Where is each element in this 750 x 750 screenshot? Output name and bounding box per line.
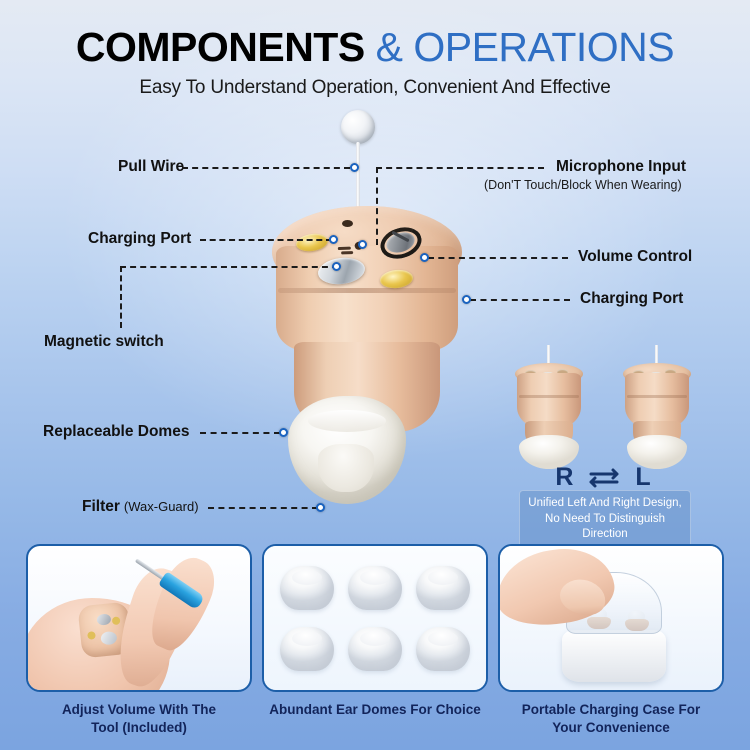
ear-dome-item [274, 619, 340, 678]
callout-charging-port-left-label: Charging Port [88, 230, 191, 247]
mini-device-left [621, 345, 693, 465]
device-contact-b [112, 616, 121, 625]
right-letter: R [555, 463, 573, 492]
ear-dome-cap [428, 570, 458, 585]
ear-dome-icon [348, 566, 402, 610]
dome-inner [318, 444, 374, 492]
feature-cards: Adjust Volume With The Tool (Included) A… [0, 544, 750, 750]
dot-charging-port-left [329, 235, 338, 244]
ear-dome-icon [416, 566, 470, 610]
leader-microphone-vertical [376, 167, 378, 245]
dome-lip [308, 410, 386, 432]
device-contact-a [87, 631, 96, 640]
volume-control-icon [380, 228, 422, 258]
callout-filter-sublabel: (Wax-Guard) [124, 499, 199, 514]
title-primary: COMPONENTS [76, 24, 365, 70]
leader-microphone-horizontal [376, 167, 544, 169]
ear-dome-icon [280, 566, 334, 610]
badge-line-2: No Need To Distinguish Direction [526, 512, 684, 543]
feature-card-charging-case[interactable]: Portable Charging Case For Your Convenie… [498, 544, 724, 737]
pull-wire-ball-icon [341, 110, 375, 144]
ear-dome-cap [292, 570, 322, 585]
leader-replaceable-domes [200, 432, 280, 434]
leader-charging-port-right [470, 299, 570, 301]
caption-line-1: Abundant Ear Domes For Choice [262, 701, 488, 719]
feature-card-ear-domes[interactable]: Abundant Ear Domes For Choice [262, 544, 488, 719]
unified-design-badge: Unified Left And Right Design, No Need T… [519, 490, 691, 549]
badge-line-1: Unified Left And Right Design, [526, 496, 684, 512]
callout-replaceable-domes: Replaceable Domes [43, 423, 189, 441]
mini-seam-left [627, 395, 687, 398]
ear-dome-icon [416, 627, 470, 671]
callout-replaceable-domes-label: Replaceable Domes [43, 423, 189, 440]
caption-line-1: Portable Charging Case For [498, 701, 724, 719]
device-switch [96, 613, 111, 625]
left-right-pair-panel: R L Unified Left And Right Design, No Ne… [505, 345, 701, 525]
ear-dome-icon [280, 627, 334, 671]
ear-dome-item [342, 619, 408, 678]
leader-filter [208, 507, 318, 509]
callout-microphone-input-label: Microphone Input [556, 158, 686, 175]
ear-dome-cap [292, 631, 322, 646]
leader-charging-port-left [200, 239, 332, 241]
dot-replaceable-domes [279, 428, 288, 437]
caption-line-1: Adjust Volume With The [26, 701, 252, 719]
feature-card-adjust-volume[interactable]: Adjust Volume With The Tool (Included) [26, 544, 252, 737]
card-image-ear-domes [262, 544, 488, 692]
mini-seam-right [519, 395, 579, 398]
mini-device-right [513, 345, 585, 465]
callout-filter: Filter(Wax-Guard) [82, 498, 199, 516]
callout-magnetic-switch-label: Magnetic switch [44, 333, 164, 350]
callout-volume-control-label: Volume Control [578, 248, 692, 265]
ear-dome-cap [360, 631, 390, 646]
callout-charging-port-left: Charging Port [88, 230, 191, 248]
main-device-illustration [262, 110, 472, 510]
callout-filter-label: Filter [82, 498, 120, 515]
callout-pull-wire: Pull Wire [118, 158, 184, 176]
swap-arrows-icon [587, 467, 621, 489]
dot-volume-control [420, 253, 429, 262]
ear-domes-grid [264, 546, 486, 690]
device-seam [278, 288, 456, 293]
ear-dome-item [410, 558, 476, 617]
card-caption-ear-domes: Abundant Ear Domes For Choice [262, 701, 488, 719]
replaceable-dome-illustration [288, 396, 406, 504]
leader-magnetic-horizontal [120, 266, 338, 268]
card-caption-charging-case: Portable Charging Case For Your Convenie… [498, 701, 724, 737]
callout-microphone-input: Microphone Input (Don'T Touch/Block When… [556, 158, 686, 192]
callout-charging-port-right: Charging Port [580, 290, 683, 308]
page-title: COMPONENTS & OPERATIONS [0, 26, 750, 69]
title-secondary: & OPERATIONS [376, 24, 675, 70]
callout-magnetic-switch: Magnetic switch [44, 333, 164, 351]
callout-charging-port-right-label: Charging Port [580, 290, 683, 307]
callout-volume-control: Volume Control [578, 248, 692, 266]
charging-case-base [562, 630, 666, 682]
card-image-adjust-volume [26, 544, 252, 692]
dot-filter [316, 503, 325, 512]
caption-line-2: Your Convenience [498, 719, 724, 737]
card-caption-adjust-volume: Adjust Volume With The Tool (Included) [26, 701, 252, 737]
page-subtitle: Easy To Understand Operation, Convenient… [0, 77, 750, 99]
dot-microphone-input [358, 240, 367, 249]
callout-pull-wire-label: Pull Wire [118, 158, 184, 175]
pull-wire-port-icon [342, 220, 353, 227]
callout-microphone-note: (Don'T Touch/Block When Wearing) [484, 178, 686, 192]
mic-slot-1 [338, 247, 351, 250]
ear-dome-icon [348, 627, 402, 671]
device-body [276, 246, 458, 351]
leader-volume-control [428, 257, 568, 259]
ear-dome-item [342, 558, 408, 617]
ear-dome-cap [428, 631, 458, 646]
card-image-charging-case [498, 544, 724, 692]
ear-dome-cap [360, 570, 390, 585]
right-left-indicator-row: R L [505, 463, 701, 492]
leader-magnetic-vertical [120, 266, 122, 328]
dot-charging-port-right [462, 295, 471, 304]
dot-magnetic-switch [332, 262, 341, 271]
leader-pull-wire [182, 167, 350, 169]
left-letter: L [635, 463, 650, 492]
device-mic [100, 631, 117, 646]
caption-line-2: Tool (Included) [26, 719, 252, 737]
ear-dome-item [410, 619, 476, 678]
dot-pull-wire [350, 163, 359, 172]
mic-slot-2 [341, 251, 353, 254]
header: COMPONENTS & OPERATIONS Easy To Understa… [0, 0, 750, 99]
ear-dome-item [274, 558, 340, 617]
